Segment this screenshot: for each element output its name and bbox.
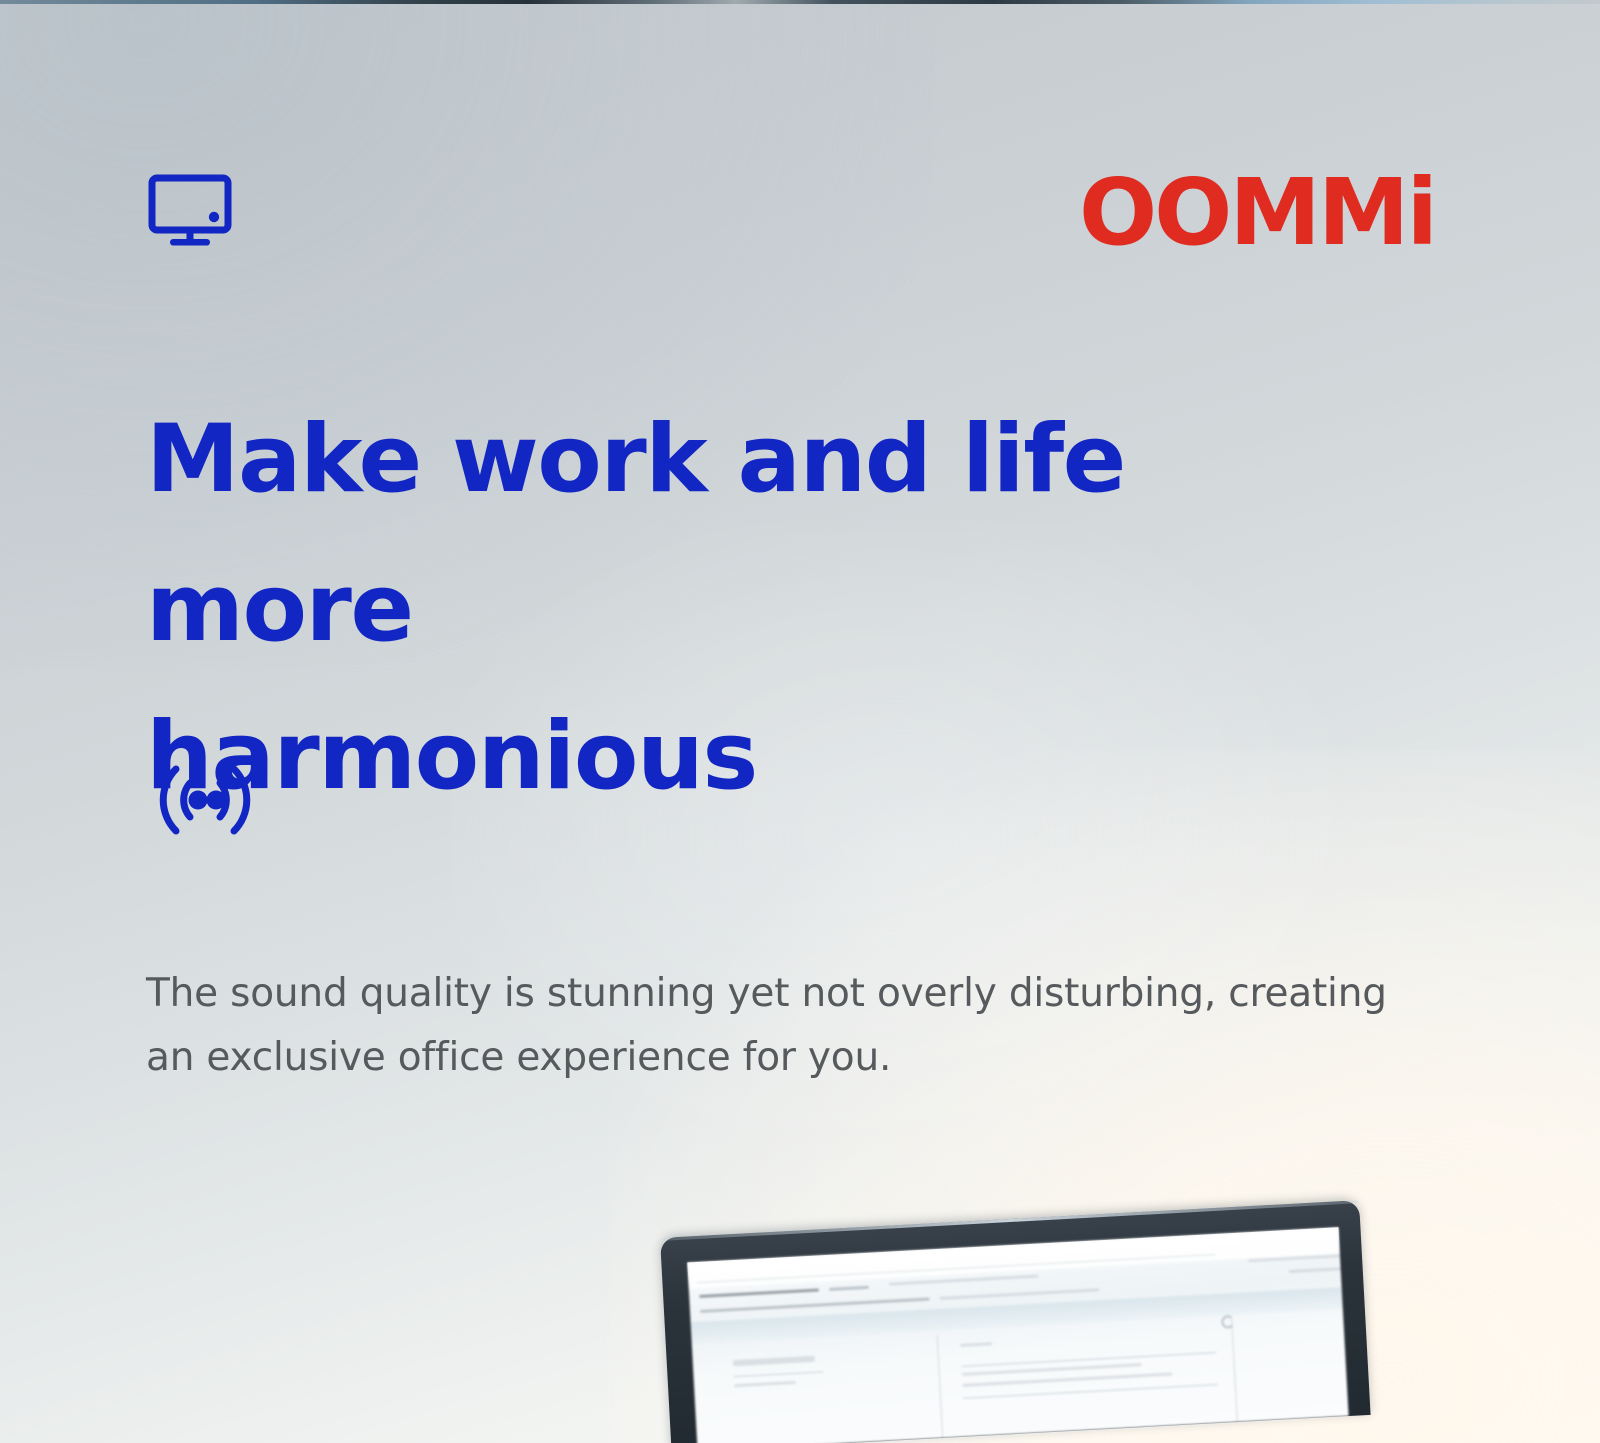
laptop-photo [660, 1200, 1371, 1443]
screen-text-line [940, 1288, 1100, 1300]
screen-text-line [960, 1342, 992, 1347]
hero-banner: OOMMi Make work and life moreharmonious … [0, 0, 1600, 1443]
brand-logo[interactable]: OOMMi [1079, 165, 1435, 261]
body-line-1: The sound quality is stunning yet not ov… [146, 971, 1387, 1016]
screen-text-line [699, 1288, 819, 1297]
screen-text-line [733, 1356, 815, 1366]
brand-logo-text: OOMMi [1079, 167, 1435, 259]
screen-text-line [829, 1286, 869, 1291]
screen-column-divider [1231, 1319, 1238, 1422]
page-title: Make work and life moreharmonious [146, 386, 1406, 832]
hero-content: OOMMi Make work and life moreharmonious … [0, 0, 1600, 1443]
body-copy: The sound quality is stunning yet not ov… [146, 962, 1426, 1090]
body-line-2: an exclusive office experience for you. [146, 1035, 891, 1080]
headline-line-1: Make work and life more [146, 405, 1125, 663]
screen-text-line [734, 1381, 796, 1387]
screen-rule [734, 1371, 824, 1377]
screen-column-divider [937, 1335, 944, 1438]
screen-rule [961, 1352, 1216, 1367]
monitor-icon [148, 174, 232, 248]
laptop-screen [687, 1227, 1348, 1443]
screen-text-line [1289, 1266, 1349, 1273]
screen-rule [963, 1384, 1218, 1399]
sound-waves-icon [146, 757, 264, 843]
screen-text-line [962, 1373, 1172, 1387]
